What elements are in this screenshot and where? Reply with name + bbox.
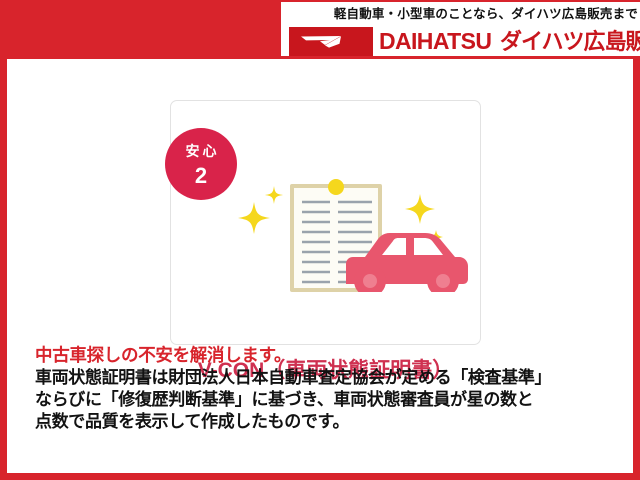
header-tagline: 軽自動車・小型車のことなら、ダイハツ広島販売まで	[286, 4, 638, 25]
footer-text-block: 中古車探しの不安を解消します。 車両状態証明書は財団法人日本自動車査定協会が定め…	[35, 344, 615, 433]
brand-japanese-text: ダイハツ広島販売	[500, 29, 640, 55]
content-panel: 安心 2 V-CON（車両状態証明書） 中古車探しの不安を解消します。 車両状態…	[7, 59, 633, 473]
promo-banner: 軽自動車・小型車のことなら、ダイハツ広島販売まで DAIHATSU ダイハツ広島…	[0, 0, 640, 480]
anshin-badge-number: 2	[165, 164, 237, 188]
sparkle-star-small-icon	[265, 186, 283, 204]
brand-latin-text: DAIHATSU	[379, 28, 491, 55]
footer-line-1: 車両状態証明書は財団法人日本自動車査定協会が定める「検査基準」	[35, 367, 615, 389]
header-band: 軽自動車・小型車のことなら、ダイハツ広島販売まで DAIHATSU ダイハツ広島…	[0, 0, 640, 57]
daihatsu-d-emblem-icon	[289, 27, 373, 56]
header-plate: 軽自動車・小型車のことなら、ダイハツ広島販売まで DAIHATSU ダイハツ広島…	[281, 2, 640, 56]
footer-line-3: 点数で品質を表示して作成したものです。	[35, 411, 615, 433]
anshin-badge: 安心 2	[165, 128, 237, 200]
footer-line-2: ならびに「修復歴判断基準」に基づき、車両状態審査員が星の数と	[35, 389, 615, 411]
anshin-badge-label: 安心	[165, 143, 237, 159]
sparkle-star-icon	[238, 202, 270, 234]
footer-headline: 中古車探しの不安を解消します。	[35, 344, 615, 367]
brand-logo-row: DAIHATSU ダイハツ広島販売	[281, 27, 640, 56]
sparkle-star-right-icon	[405, 194, 435, 224]
